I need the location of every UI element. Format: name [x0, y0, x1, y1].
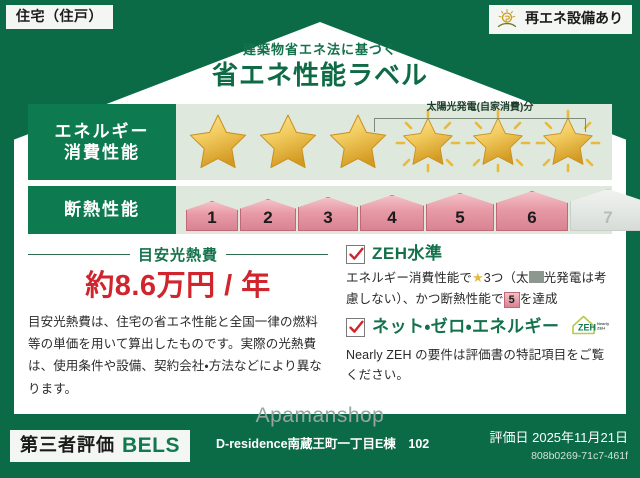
- insulation-performance-row: 断熱性能 1234567: [28, 186, 612, 234]
- insulation-level-chip: 5: [504, 292, 520, 308]
- zeh-standard-title: ZEH水準: [372, 244, 443, 264]
- bels-badge: 第三者評価 BELS: [10, 430, 190, 462]
- cost-heading: 目安光熱費: [138, 244, 218, 265]
- star-icon: [254, 109, 322, 175]
- insulation-badge-1: 1: [186, 201, 238, 231]
- energy-performance-value: 太陽光発電(自家消費)分: [176, 104, 612, 180]
- badge-number: 1: [207, 208, 216, 228]
- badge-number: 2: [263, 208, 272, 228]
- cost-section: 目安光熱費 約8.6万円 / 年 目安光熱費は、住宅の省エネ性能と全国一律の燃料…: [28, 244, 338, 400]
- energy-key-line1: エネルギー: [55, 121, 150, 142]
- dwelling-type-tag: 住宅（住戸）: [6, 5, 113, 29]
- page-title: 省エネ性能ラベル: [0, 61, 640, 91]
- footer-bar: 第三者評価 BELS D-residence南蔵王町一丁目E棟 102 評価日 …: [0, 422, 640, 478]
- title-subtitle: 建築物省エネ法に基づく: [0, 42, 640, 58]
- badge-number: 7: [603, 208, 612, 228]
- energy-performance-row: エネルギー 消費性能 太陽光発電(自家消費)分: [28, 104, 612, 180]
- insulation-performance-value: 1234567: [176, 186, 640, 234]
- zeh-body-prefix: エネルギー消費性能で: [346, 271, 472, 285]
- zeh-section: ZEH水準 エネルギー消費性能で★3つ（太光発電は考慮しない）、かつ断熱性能で5…: [338, 244, 612, 400]
- check-icon: [348, 246, 365, 263]
- zeh-netzero-head: ネット・ゼロ・エネルギー ZEH Nearly ZEH: [346, 313, 612, 342]
- cost-rule-right: [226, 254, 328, 255]
- badge-number: 4: [387, 208, 396, 228]
- evaluation-id: 808b0269-71c7-461f: [531, 450, 628, 463]
- insulation-performance-key: 断熱性能: [28, 186, 176, 234]
- solar-bracket-caption: 太陽光発電(自家消費)分: [374, 102, 586, 113]
- badge-number: 5: [455, 208, 464, 228]
- zeh-standard-head: ZEH水準: [346, 244, 612, 264]
- zeh-netzero-body: Nearly ZEH の要件は評価書の特記項目をご覧ください。: [346, 345, 612, 386]
- check-icon: [348, 319, 365, 336]
- svg-text:ZEH: ZEH: [578, 322, 596, 332]
- zeh-standard-checkbox[interactable]: [346, 245, 365, 264]
- zeh-logo-svg: ZEH Nearly ZEH: [570, 313, 612, 337]
- label-content: エネルギー 消費性能 太陽光発電(自家消費)分 断熱性能 1234567: [28, 104, 612, 400]
- zeh-body-suffix: を達成: [520, 292, 558, 306]
- insulation-badge-7: 7: [570, 189, 640, 231]
- star-base: [184, 109, 252, 175]
- inline-star-icon: ★: [472, 270, 484, 285]
- zeh-item-netzero: ネット・ゼロ・エネルギー ZEH Nearly ZEH Nearly ZEH の…: [346, 313, 612, 386]
- zeh-standard-body: エネルギー消費性能で★3つ（太光発電は考慮しない）、かつ断熱性能で5を達成: [346, 267, 612, 309]
- redaction-block: [529, 271, 544, 283]
- renewable-equipment-badge: 再エネ設備あり: [489, 5, 632, 34]
- bels-jp-label: 第三者評価: [20, 436, 115, 456]
- badge-number: 3: [323, 208, 332, 228]
- insulation-badge-list: 1234567: [184, 189, 640, 231]
- energy-label-root: 住宅（住戸） 再エネ設備あり 建築物省エネ法に基づく 省エネ性能ラベル: [0, 0, 640, 478]
- zeh-logo-icon: ZEH Nearly ZEH: [567, 313, 612, 342]
- insulation-badge-3: 3: [298, 197, 358, 231]
- cost-note: 目安光熱費は、住宅の省エネ性能と全国一律の燃料等の単価を用いて算出したものです。…: [28, 311, 328, 400]
- cost-rule-left: [28, 254, 130, 255]
- zeh-body-mid: 3つ（太: [484, 271, 529, 285]
- sun-icon: [496, 8, 520, 30]
- zeh-netzero-checkbox[interactable]: [346, 318, 365, 337]
- property-name: D-residence南蔵王町一丁目E棟 102: [216, 437, 429, 452]
- star-icon: [184, 109, 252, 175]
- star-base: [254, 109, 322, 175]
- cost-amount: 約8.6万円 / 年: [28, 271, 328, 303]
- badge-number: 6: [527, 208, 536, 228]
- sun-icon-svg: [496, 8, 520, 30]
- zeh-netzero-title: ネット・ゼロ・エネルギー: [372, 317, 560, 337]
- svg-text:ZEH: ZEH: [597, 325, 605, 330]
- insulation-badge-6: 6: [496, 191, 568, 231]
- insulation-badge-4: 4: [360, 195, 424, 231]
- energy-performance-key: エネルギー 消費性能: [28, 104, 176, 180]
- title-block: 建築物省エネ法に基づく 省エネ性能ラベル: [0, 42, 640, 90]
- renewable-badge-label: 再エネ設備あり: [525, 11, 623, 26]
- zeh-item-standard: ZEH水準 エネルギー消費性能で★3つ（太光発電は考慮しない）、かつ断熱性能で5…: [346, 244, 612, 309]
- lower-section: 目安光熱費 約8.6万円 / 年 目安光熱費は、住宅の省エネ性能と全国一律の燃料…: [28, 244, 612, 400]
- insulation-badge-5: 5: [426, 193, 494, 231]
- insulation-badge-2: 2: [240, 199, 296, 231]
- energy-key-line2: 消費性能: [64, 142, 140, 163]
- bels-en-label: BELS: [122, 434, 180, 457]
- insulation-key-line1: 断熱性能: [64, 199, 140, 220]
- evaluation-date: 評価日 2025年11月21日: [490, 430, 629, 446]
- solar-bracket: [374, 118, 586, 132]
- cost-heading-row: 目安光熱費: [28, 244, 328, 265]
